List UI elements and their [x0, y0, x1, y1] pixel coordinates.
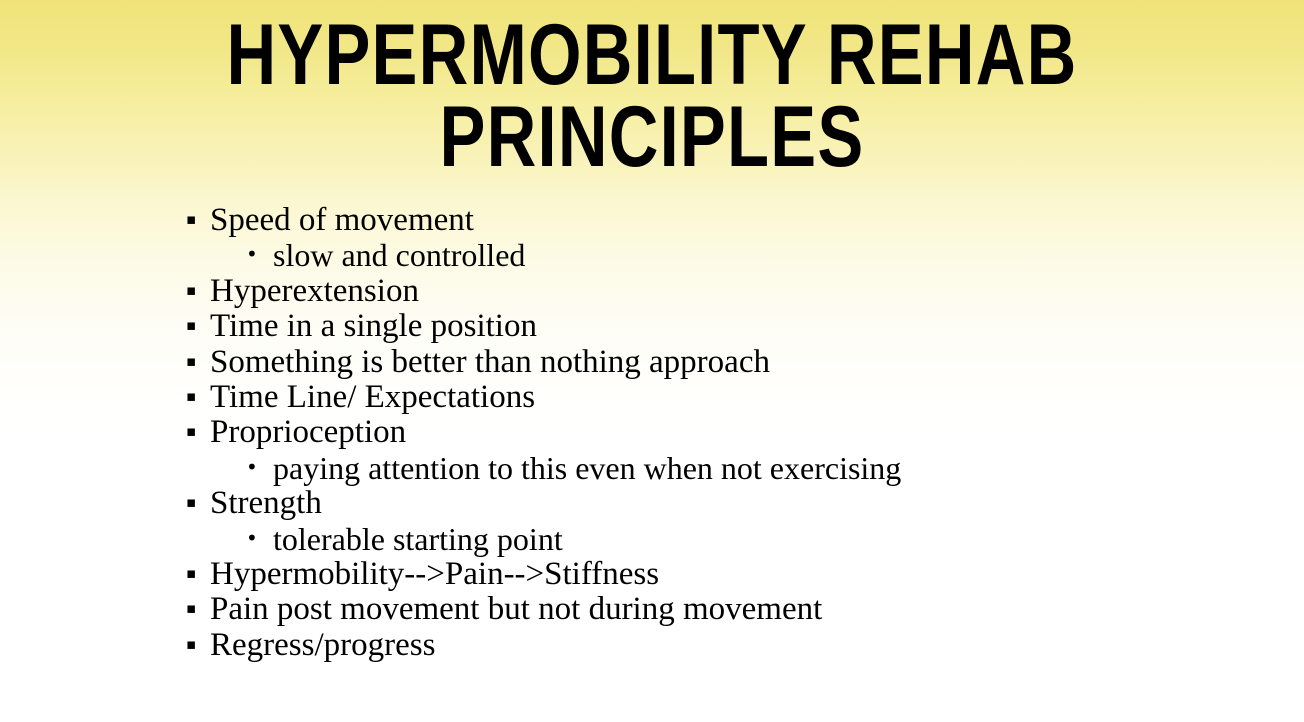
bullet-item: •tolerable starting point — [186, 522, 1286, 557]
slide-title: Hypermobility Rehab Principles — [0, 14, 1304, 178]
square-bullet-icon: ▪ — [186, 379, 210, 414]
bullet-item: ▪Hyperextension — [186, 274, 1286, 309]
bullet-item-label: Strength — [210, 486, 322, 521]
bullet-item: •slow and controlled — [186, 238, 1286, 273]
bullet-item: ▪Pain post movement but not during movem… — [186, 592, 1286, 627]
square-bullet-icon: ▪ — [186, 627, 210, 662]
square-bullet-icon: ▪ — [186, 556, 210, 591]
bullet-item-label: Time in a single position — [210, 309, 537, 344]
bullet-item-label: Speed of movement — [210, 203, 474, 238]
bullet-item: ▪Something is better than nothing approa… — [186, 345, 1286, 380]
square-bullet-icon: ▪ — [186, 308, 210, 343]
square-bullet-icon: ▪ — [186, 344, 210, 379]
presentation-slide: Hypermobility Rehab Principles ▪Speed of… — [0, 0, 1304, 722]
slide-title-line-1: Hypermobility Rehab — [130, 14, 1173, 96]
bullet-item-label: tolerable starting point — [273, 522, 563, 557]
bullet-item-label: Hypermobility-->Pain-->Stiffness — [210, 557, 659, 592]
bullet-item: ▪Proprioception — [186, 415, 1286, 450]
bullet-item: ▪Hypermobility-->Pain-->Stiffness — [186, 557, 1286, 592]
bullet-item-label: Hyperextension — [210, 274, 419, 309]
bullet-item-label: Regress/progress — [210, 628, 435, 663]
bullet-item: ▪Strength — [186, 486, 1286, 521]
bullet-item: ▪Time Line/ Expectations — [186, 380, 1286, 415]
bullet-item: •paying attention to this even when not … — [186, 451, 1286, 486]
square-bullet-icon: ▪ — [186, 202, 210, 237]
bullet-item-label: slow and controlled — [273, 238, 525, 273]
bullet-item-label: Time Line/ Expectations — [210, 380, 535, 415]
square-bullet-icon: ▪ — [186, 591, 210, 626]
bullet-item-label: Pain post movement but not during moveme… — [210, 592, 822, 627]
square-bullet-icon: ▪ — [186, 273, 210, 308]
bullet-item: ▪Regress/progress — [186, 628, 1286, 663]
bullet-item: ▪Speed of movement — [186, 203, 1286, 238]
bullet-item-label: paying attention to this even when not e… — [273, 451, 901, 486]
square-bullet-icon: ▪ — [186, 485, 210, 520]
disc-bullet-icon: • — [246, 521, 273, 556]
slide-title-line-2: Principles — [130, 96, 1173, 178]
bullet-item: ▪Time in a single position — [186, 309, 1286, 344]
disc-bullet-icon: • — [246, 237, 273, 272]
bullet-item-label: Proprioception — [210, 415, 406, 450]
slide-bullet-list: ▪Speed of movement•slow and controlled▪H… — [186, 203, 1286, 663]
disc-bullet-icon: • — [246, 450, 273, 485]
square-bullet-icon: ▪ — [186, 414, 210, 449]
bullet-item-label: Something is better than nothing approac… — [210, 345, 770, 380]
